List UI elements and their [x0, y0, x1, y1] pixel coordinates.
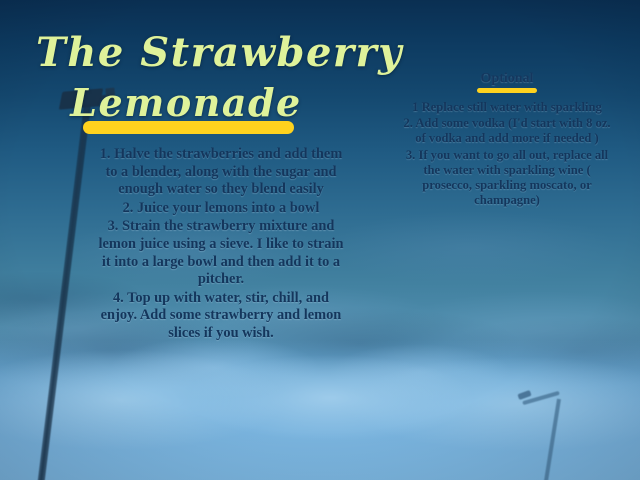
list-item: 3. Strain the strawberry mixture and lem…: [96, 218, 346, 288]
title-underline-bar: [83, 121, 294, 134]
recipe-steps-list: 1. Halve the strawberries and add them t…: [96, 146, 346, 344]
streetlight-pole-near: [35, 104, 91, 480]
list-item: 1. Halve the strawberries and add them t…: [96, 146, 346, 199]
list-item: 4. Top up with water, stir, chill, and e…: [96, 290, 346, 343]
streetlight-pole-far: [544, 399, 561, 480]
page-title: The Strawberry Lemonade: [36, 28, 336, 128]
optional-section: Optional 1 Replace still water with spar…: [398, 70, 616, 209]
list-item: 3. If you want to go all out, replace al…: [398, 148, 616, 209]
title-line-1: The Strawberry: [36, 28, 336, 78]
optional-heading: Optional: [398, 70, 616, 87]
slide-canvas: The Strawberry Lemonade 1. Halve the str…: [0, 0, 640, 480]
list-item: 2. Add some vodka (I'd start with 8 oz. …: [398, 116, 616, 146]
list-item: 1 Replace still water with sparkling: [398, 100, 616, 115]
optional-underline-bar: [477, 88, 537, 93]
list-item: 2. Juice your lemons into a bowl: [96, 200, 346, 218]
